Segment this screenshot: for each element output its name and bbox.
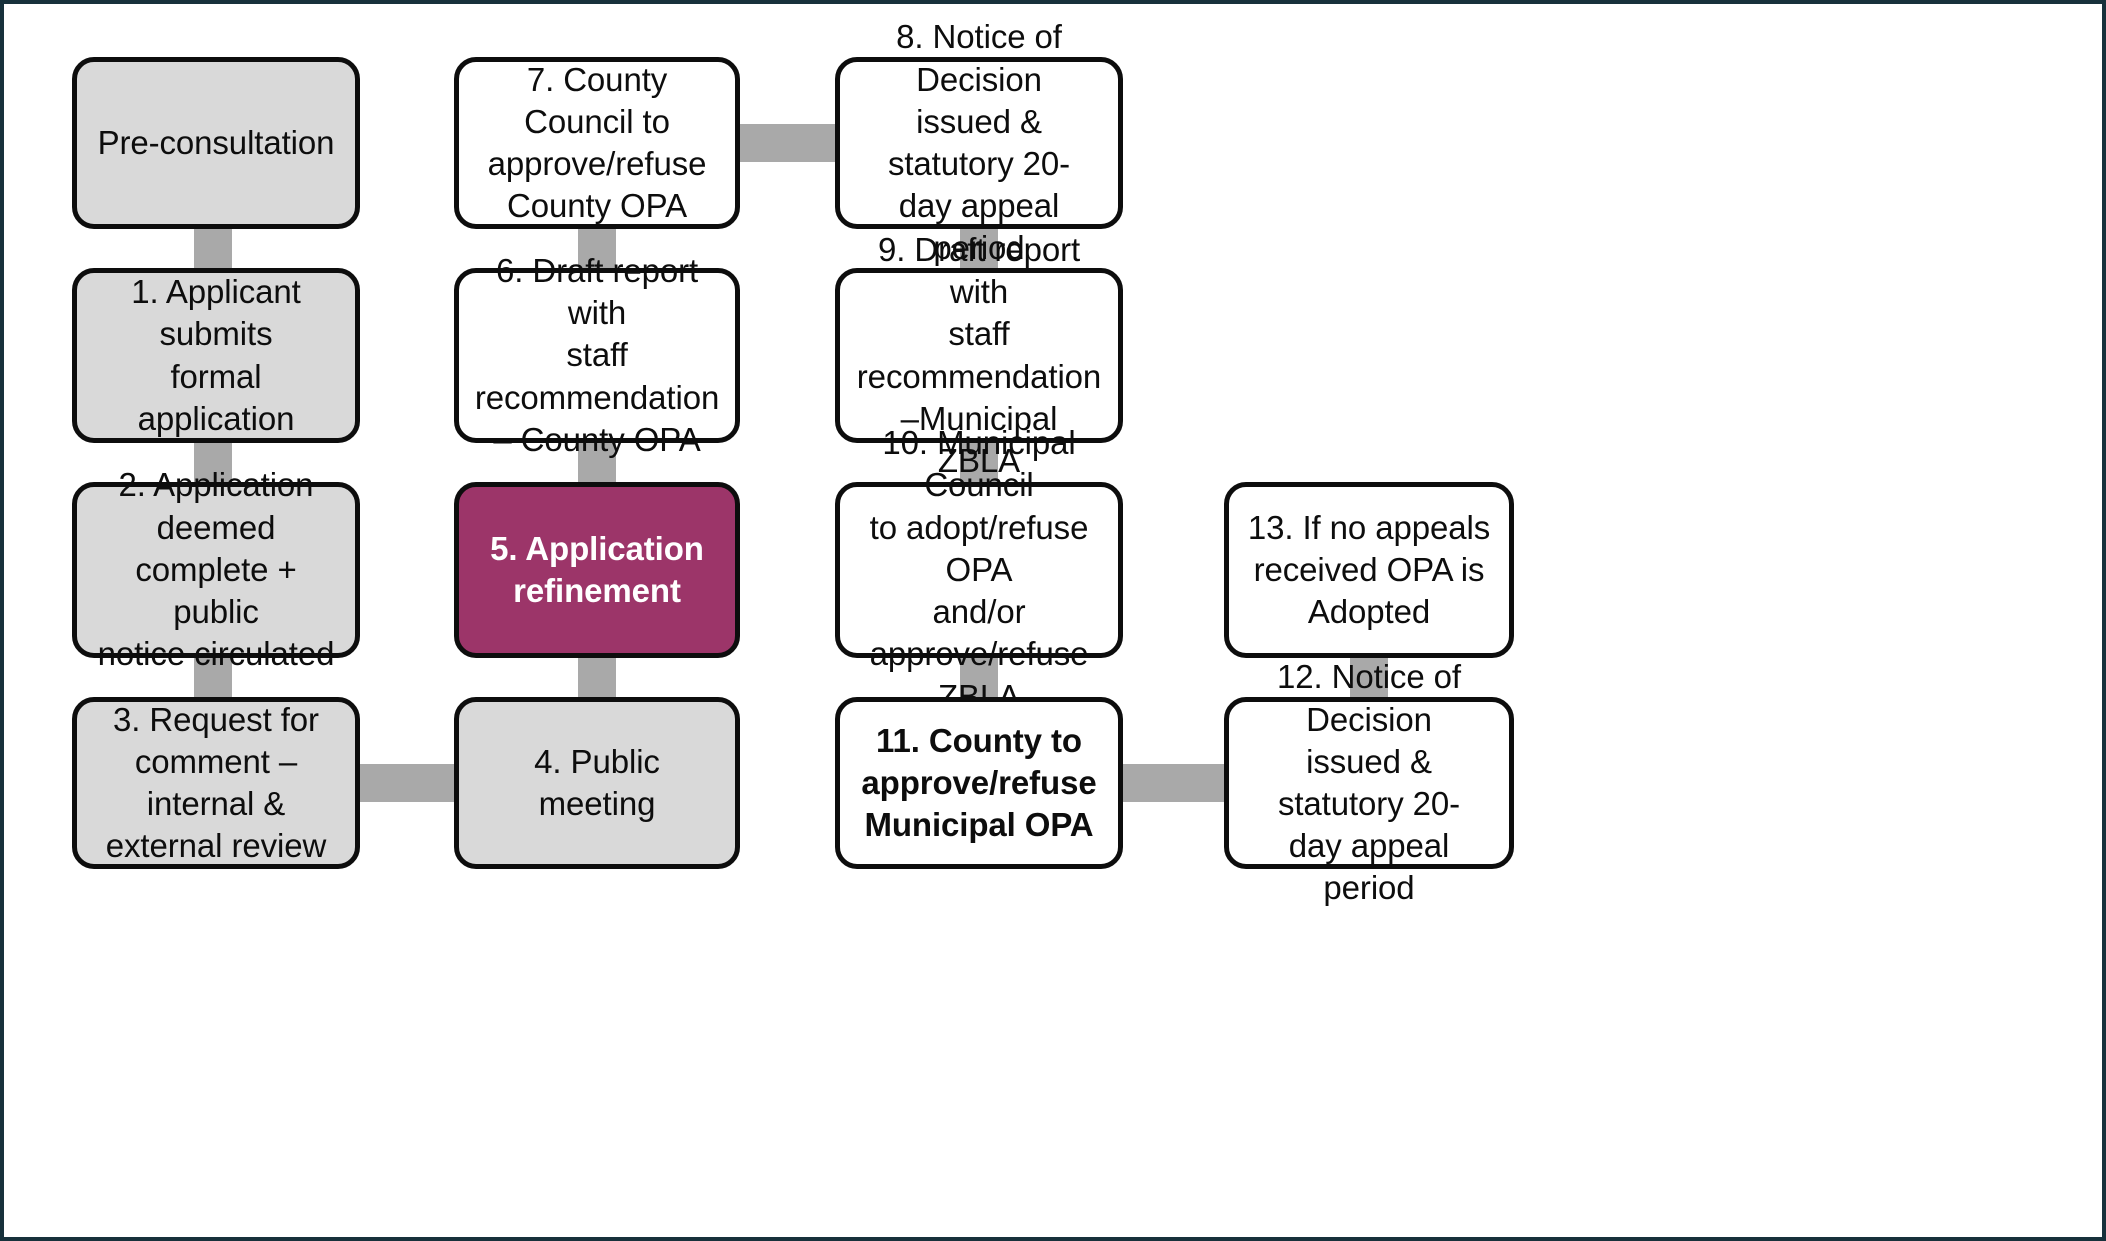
flow-node-step-3[interactable]: 3. Request for comment – internal & exte… [72,697,360,869]
flow-node-label: 13. If no appeals received OPA is Adopte… [1248,507,1490,634]
flow-node-step-13[interactable]: 13. If no appeals received OPA is Adopte… [1224,482,1514,658]
connector-c7-to-8 [737,124,839,162]
flow-node-label: 3. Request for comment – internal & exte… [93,699,339,868]
connector-pre-to-1 [194,229,232,270]
flowchart-stage: Pre-consultation1. Applicant submits for… [4,4,2102,1237]
flow-node-label: 6. Draft report with staff recommendatio… [475,250,719,461]
flow-node-pre-consultation[interactable]: Pre-consultation [72,57,360,229]
flow-node-label: 1. Applicant submits formal application [93,271,339,440]
flow-node-label: 2. Application deemed complete + public … [93,464,339,675]
flow-node-step-6[interactable]: 6. Draft report with staff recommendatio… [454,268,740,443]
flow-node-step-11[interactable]: 11. County to approve/refuse Municipal O… [835,697,1123,869]
flow-node-step-1[interactable]: 1. Applicant submits formal application [72,268,360,443]
flow-node-step-10[interactable]: 10. Municipal Council to adopt/refuse OP… [835,482,1123,658]
flowchart-canvas: Pre-consultation1. Applicant submits for… [0,0,2106,1241]
flow-node-label: 11. County to approve/refuse Municipal O… [861,720,1096,847]
flow-node-label: 7. County Council to approve/refuse Coun… [475,59,719,228]
flow-node-step-5[interactable]: 5. Application refinement [454,482,740,658]
flow-node-step-7[interactable]: 7. County Council to approve/refuse Coun… [454,57,740,229]
connector-c11-to-12 [1119,764,1229,802]
connector-c4-to-5 [578,658,616,699]
flow-node-label: Pre-consultation [98,122,335,164]
flow-node-step-9[interactable]: 9. Draft report with staff recommendatio… [835,268,1123,443]
flow-node-step-12[interactable]: 12. Notice of Decision issued & statutor… [1224,697,1514,869]
flow-node-step-4[interactable]: 4. Public meeting [454,697,740,869]
flow-node-label: 4. Public meeting [475,741,719,825]
flow-node-step-2[interactable]: 2. Application deemed complete + public … [72,482,360,658]
flow-node-label: 10. Municipal Council to adopt/refuse OP… [856,422,1102,718]
flow-node-label: 5. Application refinement [490,528,704,612]
flow-node-step-8[interactable]: 8. Notice of Decision issued & statutory… [835,57,1123,229]
flow-node-label: 12. Notice of Decision issued & statutor… [1245,656,1493,909]
connector-c3-to-4 [356,764,458,802]
